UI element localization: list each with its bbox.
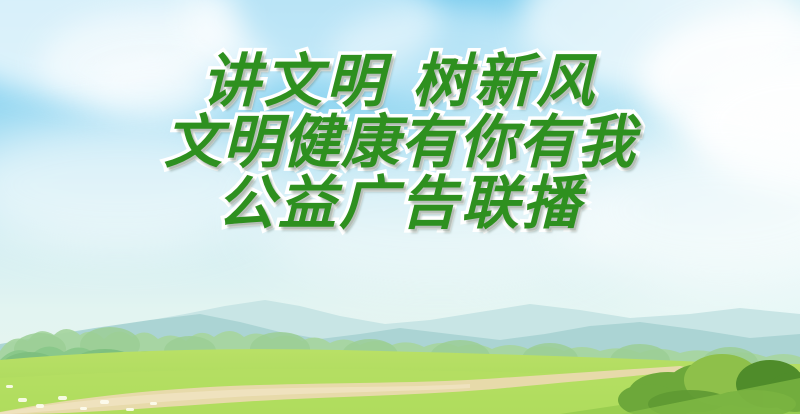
- flower-speck: [36, 404, 44, 408]
- public-service-ad-banner: 讲文明 树新风 文明健康有你有我 公益广告联播: [0, 0, 800, 414]
- headline-line-1: 讲文明 树新风: [0, 52, 800, 111]
- headline-line-2: 文明健康有你有我: [0, 113, 800, 172]
- foreground-bushes: [0, 344, 800, 414]
- flower-speck: [100, 400, 109, 404]
- flower-speck: [150, 402, 157, 405]
- flower-speck: [58, 396, 67, 400]
- headline-line-3: 公益广告联播: [0, 174, 800, 233]
- flower-speck: [126, 408, 134, 411]
- flower-speck: [80, 407, 87, 410]
- flower-speck: [6, 385, 13, 388]
- flower-speck: [18, 398, 27, 402]
- headline-block: 讲文明 树新风 文明健康有你有我 公益广告联播: [0, 52, 800, 233]
